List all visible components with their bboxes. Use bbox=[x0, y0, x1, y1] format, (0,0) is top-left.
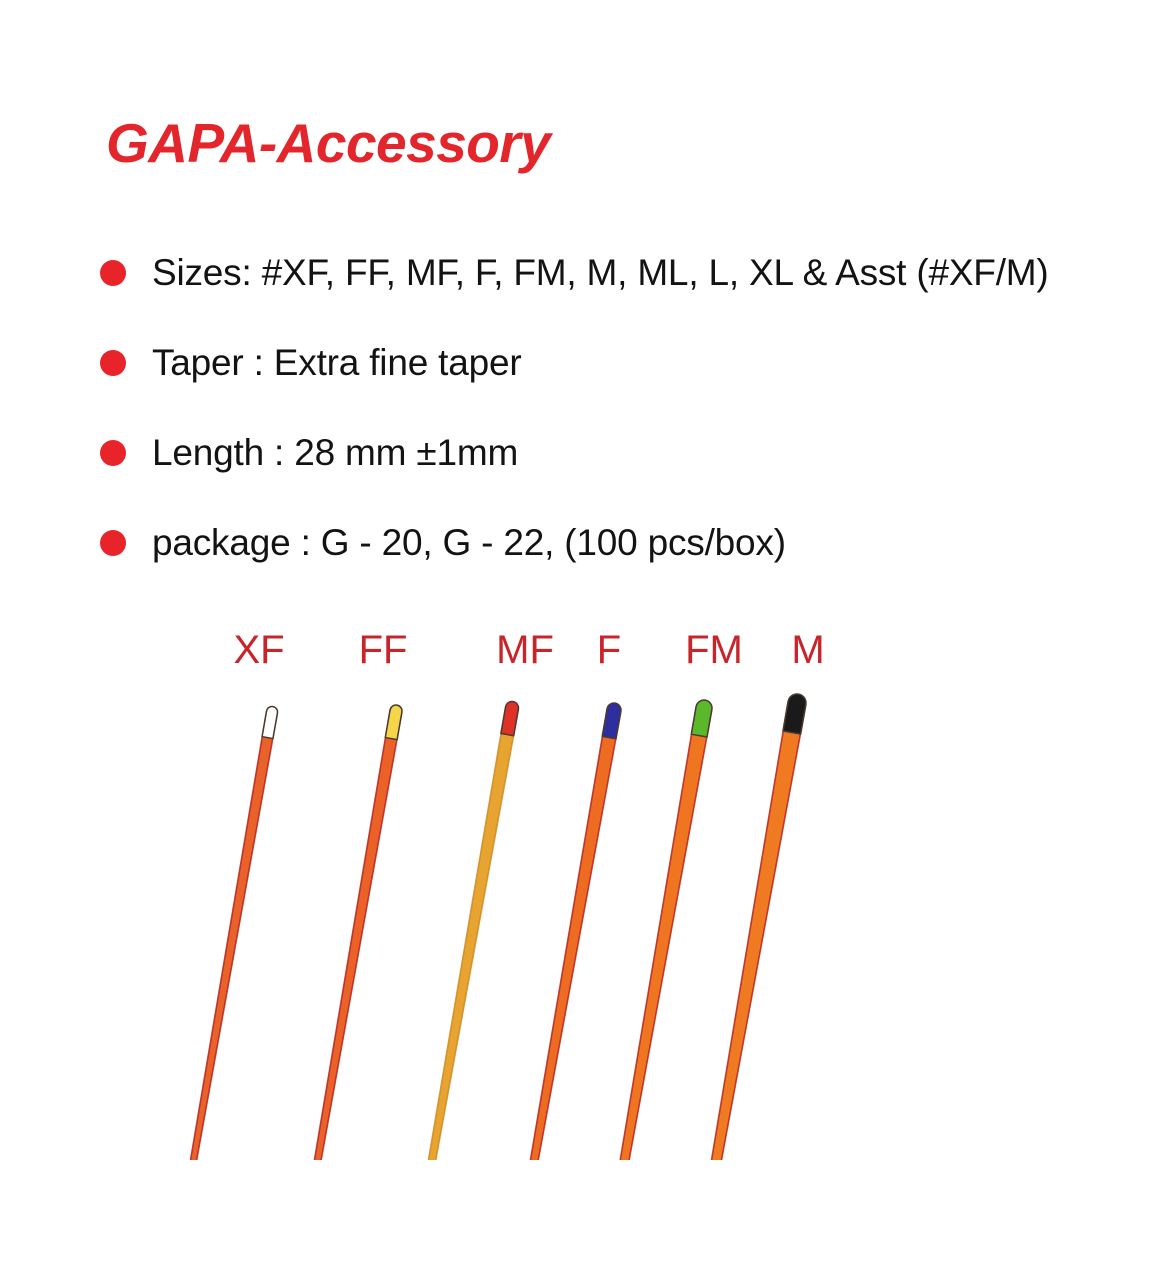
needle-tip-cap-yellow bbox=[385, 705, 402, 740]
specifications-list: Sizes: #XF, FF, MF, F, FM, M, ML, L, XL … bbox=[100, 228, 1150, 588]
needle-label-xf: XF bbox=[233, 630, 284, 670]
needle-size-diagram: XF FF MF F FM M bbox=[0, 600, 1170, 1160]
needle-edge bbox=[222, 712, 402, 1160]
needle-shaft bbox=[222, 710, 402, 1160]
spec-length-text: Length : 28 mm ±1mm bbox=[152, 432, 518, 474]
spec-sizes-text: Sizes: #XF, FF, MF, F, FM, M, ML, L, XL … bbox=[152, 252, 1049, 294]
bullet-dot-icon bbox=[100, 530, 126, 556]
needle-illustration bbox=[0, 600, 1170, 1160]
needle-shaft bbox=[620, 701, 806, 1160]
needle-label-ff: FF bbox=[359, 630, 408, 670]
needle-shaft bbox=[437, 709, 621, 1160]
needle-tip-cap-blue bbox=[602, 703, 621, 739]
spec-taper-text: Taper : Extra fine taper bbox=[152, 342, 522, 384]
page-title: GAPA-Accessory bbox=[106, 116, 550, 171]
list-item: package : G - 20, G - 22, (100 pcs/box) bbox=[100, 498, 1150, 588]
page-canvas: GAPA-Accessory Sizes: #XF, FF, MF, F, FM… bbox=[0, 0, 1170, 1263]
bullet-dot-icon bbox=[100, 440, 126, 466]
needle-edge bbox=[97, 713, 277, 1160]
needle-label-mf: MF bbox=[496, 630, 554, 670]
needle-edge bbox=[437, 709, 607, 1160]
list-item: Taper : Extra fine taper bbox=[100, 318, 1150, 408]
needle-tip-cap-red bbox=[501, 702, 519, 736]
needle-label-fm: FM bbox=[685, 630, 743, 670]
list-item: Sizes: #XF, FF, MF, F, FM, M, ML, L, XL … bbox=[100, 228, 1150, 318]
needle-ff bbox=[222, 705, 402, 1160]
needle-fm bbox=[529, 700, 712, 1160]
needle-xf bbox=[97, 707, 277, 1160]
list-item: Length : 28 mm ±1mm bbox=[100, 408, 1150, 498]
bullet-dot-icon bbox=[100, 350, 126, 376]
needle-m bbox=[620, 694, 806, 1160]
bullet-dot-icon bbox=[100, 260, 126, 286]
needle-edge bbox=[97, 711, 267, 1160]
needle-f bbox=[437, 703, 621, 1160]
needle-tip-cap-black bbox=[783, 694, 806, 734]
needle-label-f: F bbox=[597, 630, 621, 670]
needle-shaft bbox=[97, 711, 277, 1160]
needle-edge bbox=[437, 711, 621, 1160]
spec-package-text: package : G - 20, G - 22, (100 pcs/box) bbox=[152, 522, 786, 564]
needle-tip-cap-green bbox=[691, 700, 712, 737]
needle-tip-cap-white bbox=[262, 707, 277, 739]
needle-label-m: M bbox=[791, 630, 824, 670]
needle-edge bbox=[222, 710, 390, 1160]
